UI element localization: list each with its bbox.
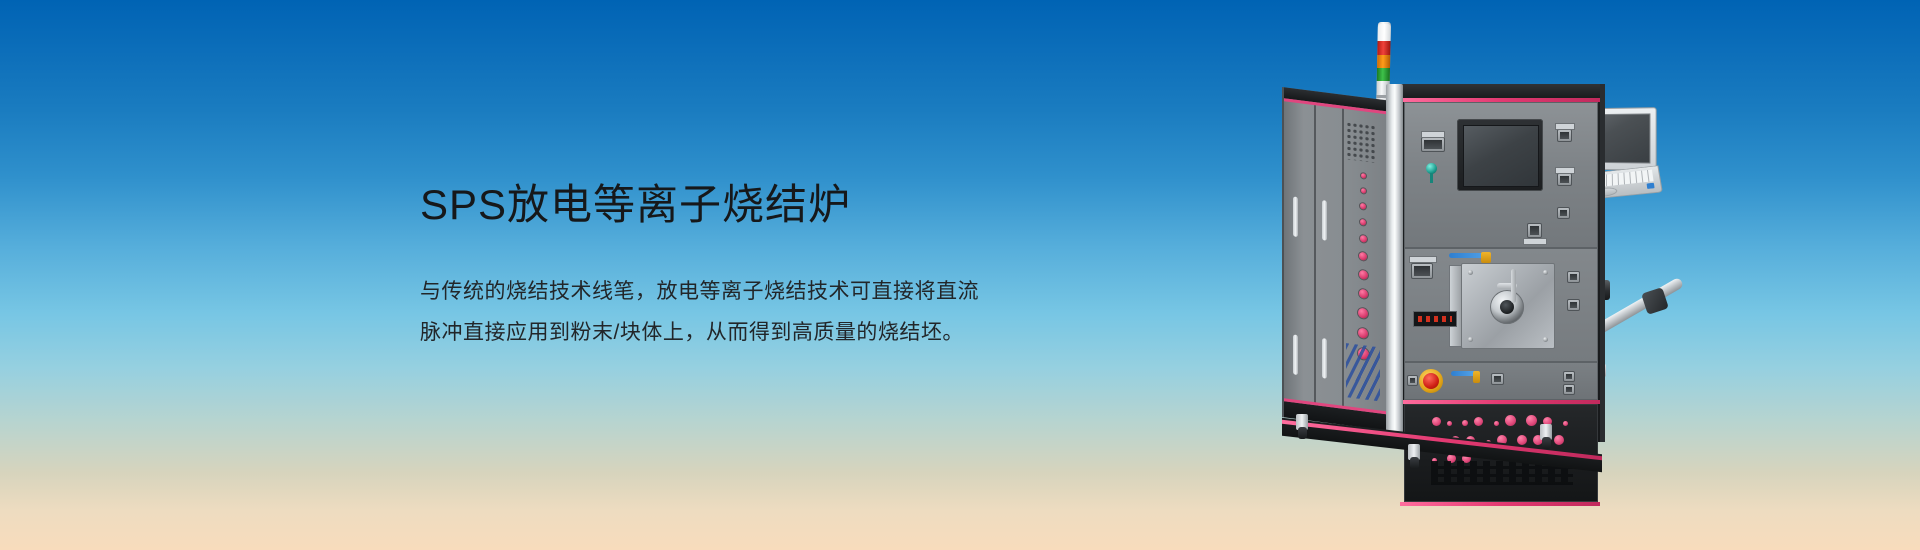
- hero-copy-block: SPS放电等离子烧结炉 与传统的烧结技术线笔，放电等离子烧结技术可直接将直流 脉…: [420, 182, 1060, 354]
- hero-description-line-1: 与传统的烧结技术线笔，放电等离子烧结技术可直接将直流: [420, 272, 1060, 313]
- page-title: SPS放电等离子烧结炉: [420, 182, 1060, 228]
- door-bolt: [1543, 270, 1548, 275]
- panel-indicator: [1407, 375, 1418, 386]
- panel-switch-label: [1421, 131, 1445, 138]
- panel-indicator: [1567, 271, 1580, 283]
- side-port-column: [1348, 171, 1378, 371]
- hero-description-line-2: 脉冲直接应用到粉末/块体上，从而得到高质量的烧结坯。: [420, 313, 1060, 354]
- digital-readout: [1413, 311, 1457, 327]
- emergency-stop-button[interactable]: [1419, 369, 1443, 393]
- panel-button[interactable]: [1527, 223, 1542, 238]
- cabinet-handle: [1293, 334, 1298, 375]
- coolant-hose: [1451, 371, 1477, 376]
- side-cabinet: [1282, 87, 1392, 431]
- caster-wheel: [1408, 444, 1420, 470]
- panel-button-label: [1523, 238, 1547, 245]
- panel-switch-label: [1409, 256, 1437, 263]
- laptop-badge-icon: [1647, 183, 1655, 189]
- panel-switch-label: [1555, 123, 1575, 130]
- panel-indicator: [1557, 207, 1570, 219]
- door-bolt: [1468, 270, 1473, 275]
- stack-light-amber-icon: [1377, 55, 1390, 68]
- cabinet-handle: [1293, 196, 1298, 237]
- side-cabinet-door-seam: [1314, 105, 1316, 405]
- panel-switch[interactable]: [1557, 129, 1572, 142]
- cabinet-top-bar: [1400, 84, 1600, 98]
- touchscreen-display[interactable]: [1463, 125, 1539, 187]
- panel-button[interactable]: [1491, 373, 1504, 385]
- cabinet-handle: [1322, 338, 1327, 379]
- panel-switch[interactable]: [1557, 173, 1572, 186]
- caster-wheel: [1296, 414, 1308, 440]
- panel-indicator: [1567, 299, 1580, 311]
- main-cabinet: [1400, 84, 1605, 442]
- control-panel-lower: [1404, 362, 1598, 400]
- display-bezel: [1457, 119, 1543, 191]
- panel-switch[interactable]: [1411, 263, 1433, 279]
- cabinet-label-strip: [1346, 343, 1380, 401]
- side-cabinet-door-seam: [1342, 109, 1344, 409]
- corner-post: [1386, 84, 1403, 436]
- key-switch[interactable]: [1426, 163, 1437, 183]
- vacuum-chamber-door[interactable]: [1461, 263, 1555, 349]
- sps-furnace-illustration: [1282, 22, 1702, 532]
- panel-switch-label: [1555, 167, 1575, 174]
- ventilation-grille-icon: [1346, 121, 1376, 163]
- door-handle[interactable]: [1497, 283, 1517, 289]
- panel-indicator: [1563, 384, 1575, 395]
- door-bolt: [1543, 337, 1548, 342]
- stack-light-red-icon: [1377, 41, 1390, 55]
- door-bolt: [1468, 337, 1473, 342]
- coolant-hose: [1449, 253, 1485, 258]
- stack-light-green-icon: [1377, 68, 1390, 81]
- stack-light-cap-icon: [1378, 24, 1391, 41]
- panel-switch[interactable]: [1421, 137, 1445, 152]
- control-knob[interactable]: [1407, 293, 1417, 303]
- panel-indicator: [1563, 371, 1575, 382]
- circular-viewport: [1490, 290, 1524, 324]
- chamber-panel: [1404, 248, 1598, 362]
- control-panel-upper: [1404, 102, 1598, 248]
- hero-description: 与传统的烧结技术线笔，放电等离子烧结技术可直接将直流 脉冲直接应用到粉末/块体上…: [420, 272, 1060, 354]
- product-hero-banner: SPS放电等离子烧结炉 与传统的烧结技术线笔，放电等离子烧结技术可直接将直流 脉…: [0, 0, 1920, 550]
- cabinet-handle: [1322, 200, 1327, 241]
- accent-stripe-bottom: [1400, 502, 1600, 506]
- caster-wheel: [1540, 424, 1552, 450]
